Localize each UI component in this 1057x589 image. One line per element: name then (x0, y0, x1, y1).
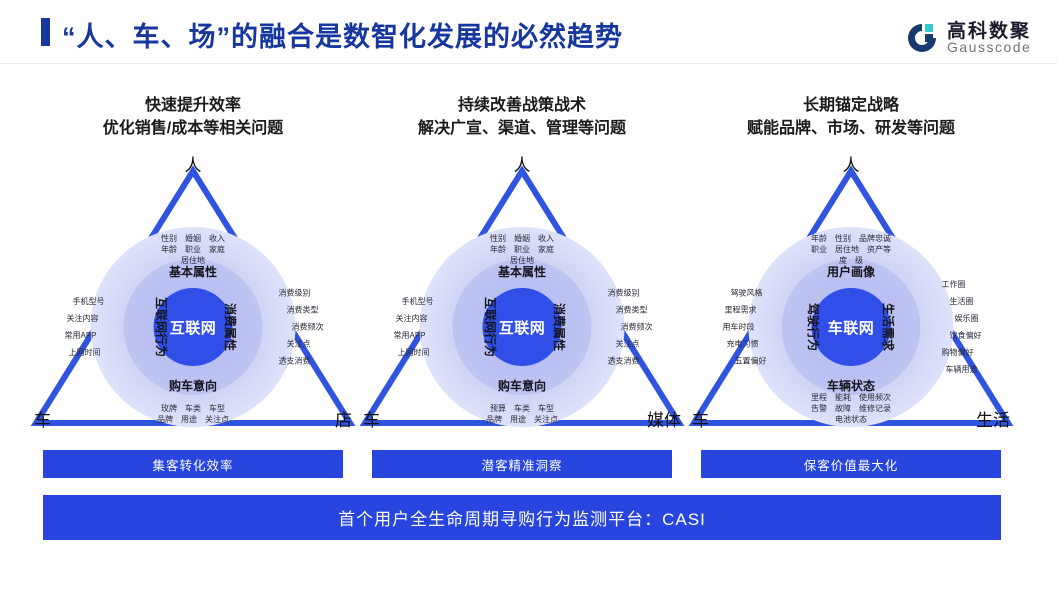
core-label-3: 车联网 (828, 317, 875, 338)
core-label-1: 互联网 (170, 317, 217, 338)
ring-label-line: 工作圈 (942, 276, 982, 293)
ring-label-line: 常用APP (65, 327, 105, 344)
mid-bottom-label-1: 购车意向 (169, 377, 217, 394)
ring-label-line: 关注点 (287, 336, 324, 353)
concentric-circles-3: 车联网 车联网 用户画像 车辆状态 驾驶行为 生活需求 年龄 性别 品牌忠诚职业… (749, 227, 954, 427)
ring-label-line: 年龄 职业 家庭 (161, 244, 225, 255)
column-3-heading-line2: 赋能品牌、市场、研发等问题 (686, 117, 1016, 141)
outcome-bar-1: 集客转化效率 (43, 450, 343, 478)
concentric-circles-2: 互联网 互联网 基本属性 购车意向 互联网行为 消费属性 性别 婚姻 收入年龄 … (420, 227, 625, 427)
ring-label-line: 预算 车类 车型 (486, 403, 558, 414)
vertex-right-3: 生活 (976, 406, 1010, 431)
header-divider (0, 63, 1057, 64)
concentric-circles-1: 互联网 互联网 基本属性 购车意向 互联网行为 消费属性 性别 婚姻 收入年龄 … (91, 227, 296, 427)
title-accent-bar (41, 18, 50, 46)
ring-right-labels-3: 工作圈生活圈娱乐圈饮食偏好购物偏好车辆用途 (942, 276, 982, 378)
column-1-heading: 快速提升效率 优化销售/成本等相关问题 (28, 95, 358, 141)
platform-banner: 首个用户全生命周期寻购行为监测平台：CASI (43, 495, 1001, 540)
column-3: 长期锚定战略 赋能品牌、市场、研发等问题 人 车 生活 车联网 车联网 用户画像… (686, 95, 1016, 485)
column-1-heading-line2: 优化销售/成本等相关问题 (28, 117, 358, 141)
ring-label-line: 手机型号 (73, 293, 105, 310)
mid-left-label-2: 互联网行为 (482, 297, 499, 357)
ring-label-line: 年龄 性别 品牌忠诚 (811, 233, 891, 244)
mid-left-label-1: 互联网行为 (153, 297, 170, 357)
vertex-top-3: 人 (843, 151, 860, 176)
ring-label-line: 车辆用途 (946, 361, 982, 378)
ring-label-line: 玫牌 车类 车型 (157, 403, 229, 414)
ring-label-line: 手机型号 (402, 293, 434, 310)
column-2-heading-line2: 解决广宣、渠道、管理等问题 (357, 117, 687, 141)
mid-left-label-3: 驾驶行为 (805, 303, 822, 351)
core-label-2: 互联网 (499, 317, 546, 338)
column-1: 快速提升效率 优化销售/成本等相关问题 人 车 店 互联网 互联网 基本属性 购… (28, 95, 358, 485)
ring-label-line: 消费类型 (616, 302, 653, 319)
ring-label-line: 关注内容 (67, 310, 105, 327)
core-circle-3: 车联网 (812, 288, 891, 366)
ring-label-line: 度 级 (811, 255, 891, 266)
ring-label-line: 上网时间 (69, 344, 105, 361)
page-title: “人、车、场”的融合是数智化发展的必然趋势 (62, 15, 623, 54)
column-3-heading: 长期锚定战略 赋能品牌、市场、研发等问题 (686, 95, 1016, 141)
ring-label-line: 娱乐圈 (955, 310, 982, 327)
ring-label-line: 消费级别 (279, 285, 324, 302)
ring-label-line: 驾驶风格 (731, 285, 767, 302)
ring-label-line: 告警 故障 维修记录 (811, 403, 891, 414)
ring-left-labels-3: 驾驶风格里程需求用车时段充电习惯五置偏好 (721, 285, 767, 370)
mid-right-label-1: 消费属性 (222, 303, 239, 351)
mid-right-label-2: 消费属性 (551, 303, 568, 351)
column-2-heading-line1: 持续改善战策战术 (357, 95, 687, 117)
ring-label-line: 品牌 用途 关注点 (157, 414, 229, 425)
ring-label-line: 里程 能耗 使用频次 (811, 392, 891, 403)
ring-label-line: 上网时间 (398, 344, 434, 361)
ring-label-line: 关注点 (616, 336, 653, 353)
ring-label-line: 消费类型 (287, 302, 324, 319)
ring-label-line: 居住地 (161, 255, 225, 266)
vertex-left-2: 车 (363, 406, 380, 431)
ring-label-line: 居住地 (490, 255, 554, 266)
ring-label-line: 消费频次 (292, 319, 324, 336)
ring-label-line: 五置偏好 (735, 353, 767, 370)
vertex-top-2: 人 (514, 151, 531, 176)
column-1-heading-line1: 快速提升效率 (28, 95, 358, 117)
ring-top-labels-2: 性别 婚姻 收入年龄 职业 家庭居住地 (490, 233, 554, 266)
ring-left-labels-2: 手机型号关注内容常用APP上网时间 (392, 293, 434, 361)
ring-label-line: 购物偏好 (942, 344, 982, 361)
ring-label-line: 电池状态 (811, 414, 891, 425)
vertex-right-2: 媒体 (647, 406, 681, 431)
mid-right-label-3: 生活需求 (880, 303, 897, 351)
logo-text-en: Gausscode (947, 39, 1031, 55)
column-3-heading-line1: 长期锚定战略 (686, 95, 1016, 117)
gausscode-logo-icon (905, 21, 939, 55)
column-2: 持续改善战策战术 解决广宣、渠道、管理等问题 人 车 媒体 互联网 互联网 基本… (357, 95, 687, 485)
ring-top-labels-3: 年龄 性别 品牌忠诚职业 居住地 资产等度 级 (811, 233, 891, 266)
ring-label-line: 生活圈 (950, 293, 982, 310)
column-2-triangle: 人 车 媒体 互联网 互联网 基本属性 购车意向 互联网行为 消费属性 性别 婚… (357, 155, 687, 433)
ring-label-line: 年龄 职业 家庭 (490, 244, 554, 255)
ring-bottom-labels-2: 预算 车类 车型品牌 用途 关注点 (486, 403, 558, 425)
ring-label-line: 透支消费 (608, 353, 653, 370)
ring-label-line: 充电习惯 (727, 336, 767, 353)
ring-right-labels-2: 消费级别消费类型消费频次关注点透支消费 (608, 285, 653, 370)
ring-label-line: 关注内容 (396, 310, 434, 327)
ring-label-line: 饮食偏好 (950, 327, 982, 344)
ring-label-line: 性别 婚姻 收入 (161, 233, 225, 244)
vertex-left-3: 车 (692, 406, 709, 431)
ring-bottom-labels-1: 玫牌 车类 车型品牌 用途 关注点 (157, 403, 229, 425)
ring-label-line: 性别 婚姻 收入 (490, 233, 554, 244)
column-2-heading: 持续改善战策战术 解决广宣、渠道、管理等问题 (357, 95, 687, 141)
outcome-bar-3: 保客价值最大化 (701, 450, 1001, 478)
column-1-triangle: 人 车 店 互联网 互联网 基本属性 购车意向 互联网行为 消费属性 性别 婚姻… (28, 155, 358, 433)
outcome-bar-2: 潜客精准洞察 (372, 450, 672, 478)
ring-label-line: 品牌 用途 关注点 (486, 414, 558, 425)
ring-label-line: 职业 居住地 资产等 (811, 244, 891, 255)
vertex-top-1: 人 (185, 151, 202, 176)
slide-header: “人、车、场”的融合是数智化发展的必然趋势 高科数聚 Gausscode (0, 0, 1057, 64)
ring-label-line: 用车时段 (723, 319, 767, 336)
ring-label-line: 里程需求 (725, 302, 767, 319)
ring-label-line: 消费频次 (621, 319, 653, 336)
ring-left-labels-1: 手机型号关注内容常用APP上网时间 (63, 293, 105, 361)
vertex-right-1: 店 (335, 406, 352, 431)
ring-label-line: 消费级别 (608, 285, 653, 302)
mid-bottom-label-2: 购车意向 (498, 377, 546, 394)
ring-label-line: 透支消费 (279, 353, 324, 370)
ring-bottom-labels-3: 里程 能耗 使用频次告警 故障 维修记录电池状态 (811, 392, 891, 425)
brand-logo: 高科数聚 Gausscode (905, 16, 1040, 60)
ring-label-line: 常用APP (394, 327, 434, 344)
column-3-triangle: 人 车 生活 车联网 车联网 用户画像 车辆状态 驾驶行为 生活需求 年龄 性别… (686, 155, 1016, 433)
ring-right-labels-1: 消费级别消费类型消费频次关注点透支消费 (279, 285, 324, 370)
vertex-left-1: 车 (34, 406, 51, 431)
ring-top-labels-1: 性别 婚姻 收入年龄 职业 家庭居住地 (161, 233, 225, 266)
